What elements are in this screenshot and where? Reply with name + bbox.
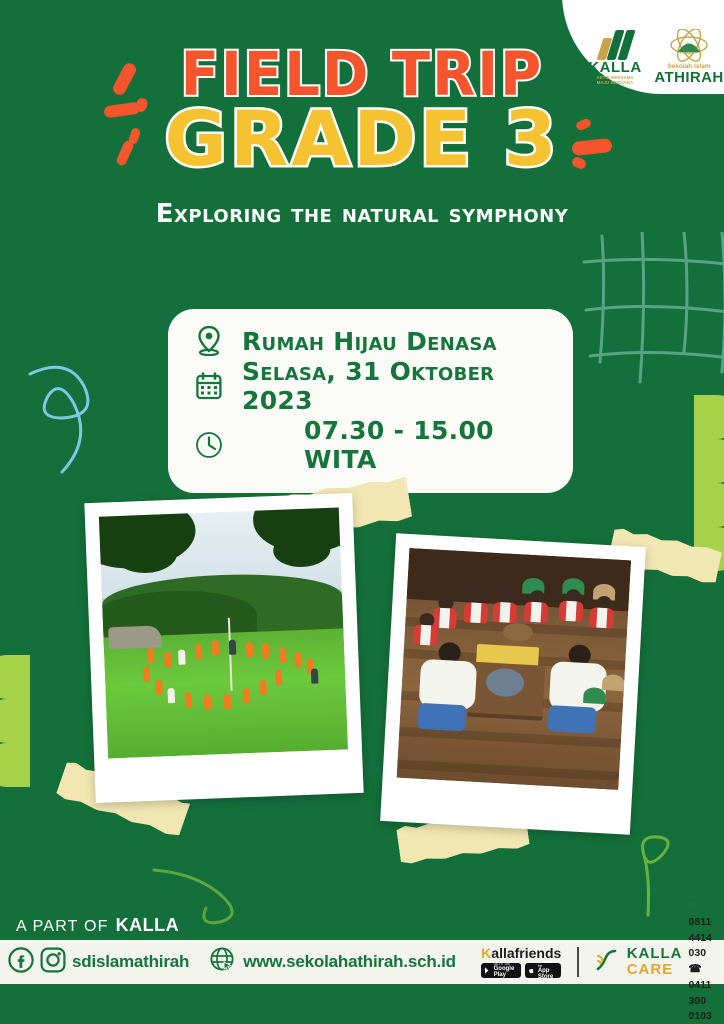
kallafriends-rest: allafriends — [491, 945, 561, 961]
photo-field-activity-image — [99, 507, 348, 758]
phone-2: 0411 300 0103 — [689, 979, 712, 1023]
phone-row-1[interactable]: ✆ 0811 4414 030 — [689, 899, 717, 962]
title-line-1: FIELD TRIP — [0, 46, 724, 105]
telephone-icon: ☎ — [689, 963, 702, 975]
info-location-text: Rumah Hijau Denasa — [242, 327, 497, 356]
kallafriends-title: Kallafriends — [481, 946, 561, 960]
headline-block: FIELD TRIP GRADE 3 Exploring the natural… — [0, 46, 724, 229]
google-play-large: Google Play — [494, 966, 518, 978]
google-play-badge[interactable]: GET IT ON Google Play — [481, 963, 521, 978]
poster-canvas: KALLA AKTIF BERSAMA MAJU BERSAMA Sekolah… — [0, 0, 724, 1024]
phone-numbers: ✆ 0811 4414 030 ☎ 0411 300 0103 — [689, 899, 717, 1024]
lime-scallop-left — [0, 655, 30, 787]
phone-row-2[interactable]: ☎ 0411 300 0103 — [689, 962, 717, 1024]
info-row-date: Selasa, 31 Oktober 2023 — [192, 357, 553, 415]
a-part-of-kalla: A PART OF KALLA — [16, 915, 179, 936]
kalla-care-text: KALLA CARE — [627, 946, 683, 978]
facebook-icon[interactable] — [8, 947, 34, 978]
kallafriends-group[interactable]: Kallafriends GET IT ON Google Play Downl… — [481, 946, 561, 978]
signal-icon — [595, 947, 621, 978]
event-info-card: Rumah Hijau Denasa Selasa, 31 Oktober 20… — [168, 309, 573, 493]
photo-workshop-activity-image — [397, 548, 631, 790]
footer-divider-1 — [464, 947, 465, 977]
info-row-time: 07.30 - 15.00 WITA — [192, 416, 553, 474]
info-time-text: 07.30 - 15.00 WITA — [304, 416, 553, 474]
a-part-of-text: A PART OF — [16, 918, 109, 936]
social-handle[interactable]: sdislamathirah — [72, 952, 189, 972]
clock-icon — [192, 431, 226, 459]
social-group[interactable]: sdislamathirah — [8, 947, 189, 978]
website-url[interactable]: www.sekolahathirah.sch.id — [243, 952, 456, 972]
kallafriends-k: K — [481, 945, 491, 961]
photo-field-activity — [84, 493, 363, 803]
app-store-badge[interactable]: Download on the App Store — [525, 963, 561, 978]
kalla-care-line1: KALLA — [627, 946, 683, 962]
website-group[interactable]: www.sekolahathirah.sch.id — [209, 946, 456, 979]
footer-bar: sdislamathirah www.sekolahathirah.sch.id… — [0, 940, 724, 984]
globe-icon — [209, 946, 237, 979]
location-pin-icon — [192, 326, 226, 356]
title-line-2: GRADE 3 — [0, 101, 724, 177]
blue-swirl-doodle — [22, 360, 112, 490]
photo-workshop-activity — [380, 533, 646, 835]
store-badges[interactable]: GET IT ON Google Play Download on the Ap… — [481, 963, 561, 978]
lime-scallop-right — [694, 395, 724, 571]
app-store-large: App Store — [538, 968, 558, 980]
footer-divider-2 — [577, 947, 578, 977]
info-date-text: Selasa, 31 Oktober 2023 — [242, 357, 553, 415]
adult-left — [417, 641, 478, 732]
instagram-icon[interactable] — [40, 947, 66, 978]
a-part-of-brand: KALLA — [116, 915, 180, 936]
subtitle: Exploring the natural symphony — [0, 199, 724, 229]
kalla-care-group[interactable]: KALLA CARE ✆ 0811 4414 030 ☎ 0411 300 01… — [595, 899, 716, 1024]
kalla-care-line2: CARE — [627, 962, 683, 978]
mobile-phone-icon: ✆ — [689, 900, 698, 912]
info-row-location: Rumah Hijau Denasa — [192, 326, 553, 356]
phone-1: 0811 4414 030 — [689, 916, 712, 960]
calendar-icon — [192, 372, 226, 400]
